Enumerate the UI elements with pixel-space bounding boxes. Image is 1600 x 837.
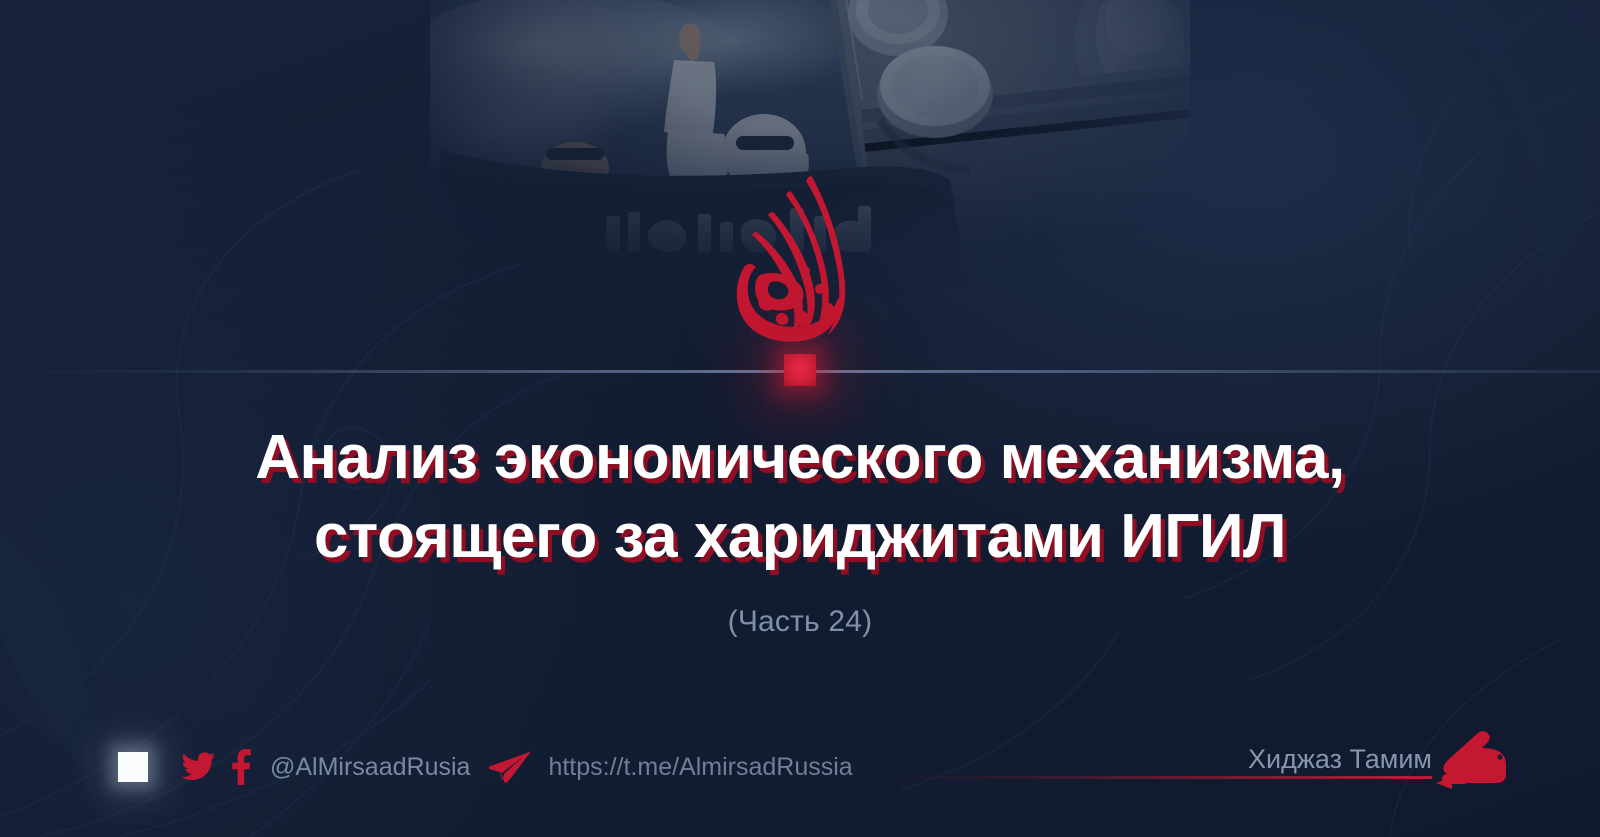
telegram-plane-icon-wrap[interactable] [488, 750, 532, 784]
social-icons-group[interactable] [182, 749, 254, 785]
facebook-f-icon[interactable] [230, 749, 254, 785]
author-block: Хиджаз Тамим [1248, 746, 1432, 779]
slide-title: Анализ экономического механизма, стоящег… [0, 418, 1600, 577]
presentation-slide: 590098 A [0, 0, 1600, 837]
social-handle[interactable]: @AlMirsaadRusia [270, 753, 470, 782]
telegram-plane-icon[interactable] [488, 750, 532, 784]
slide-title-line-2: стоящего за хариджитами ИГИЛ [314, 502, 1286, 571]
white-square-marker-icon [118, 752, 148, 782]
al-mirsaad-logo [695, 168, 905, 353]
telegram-url[interactable]: https://t.me/AlmirsadRussia [548, 753, 852, 782]
author-name: Хиджаз Тамим [1248, 746, 1432, 779]
title-block: Анализ экономического механизма, стоящег… [0, 418, 1600, 639]
slide-footer: @AlMirsaadRusia https://t.me/AlmirsadRus… [0, 717, 1600, 837]
red-accent-square [784, 354, 816, 386]
writing-hand-pen-icon [1432, 731, 1510, 789]
slide-subtitle: (Часть 24) [0, 605, 1600, 639]
slide-title-line-1: Анализ экономического механизма, [255, 423, 1344, 492]
footer-social-bar: @AlMirsaadRusia https://t.me/AlmirsadRus… [118, 749, 853, 785]
twitter-bird-icon[interactable] [182, 749, 230, 785]
